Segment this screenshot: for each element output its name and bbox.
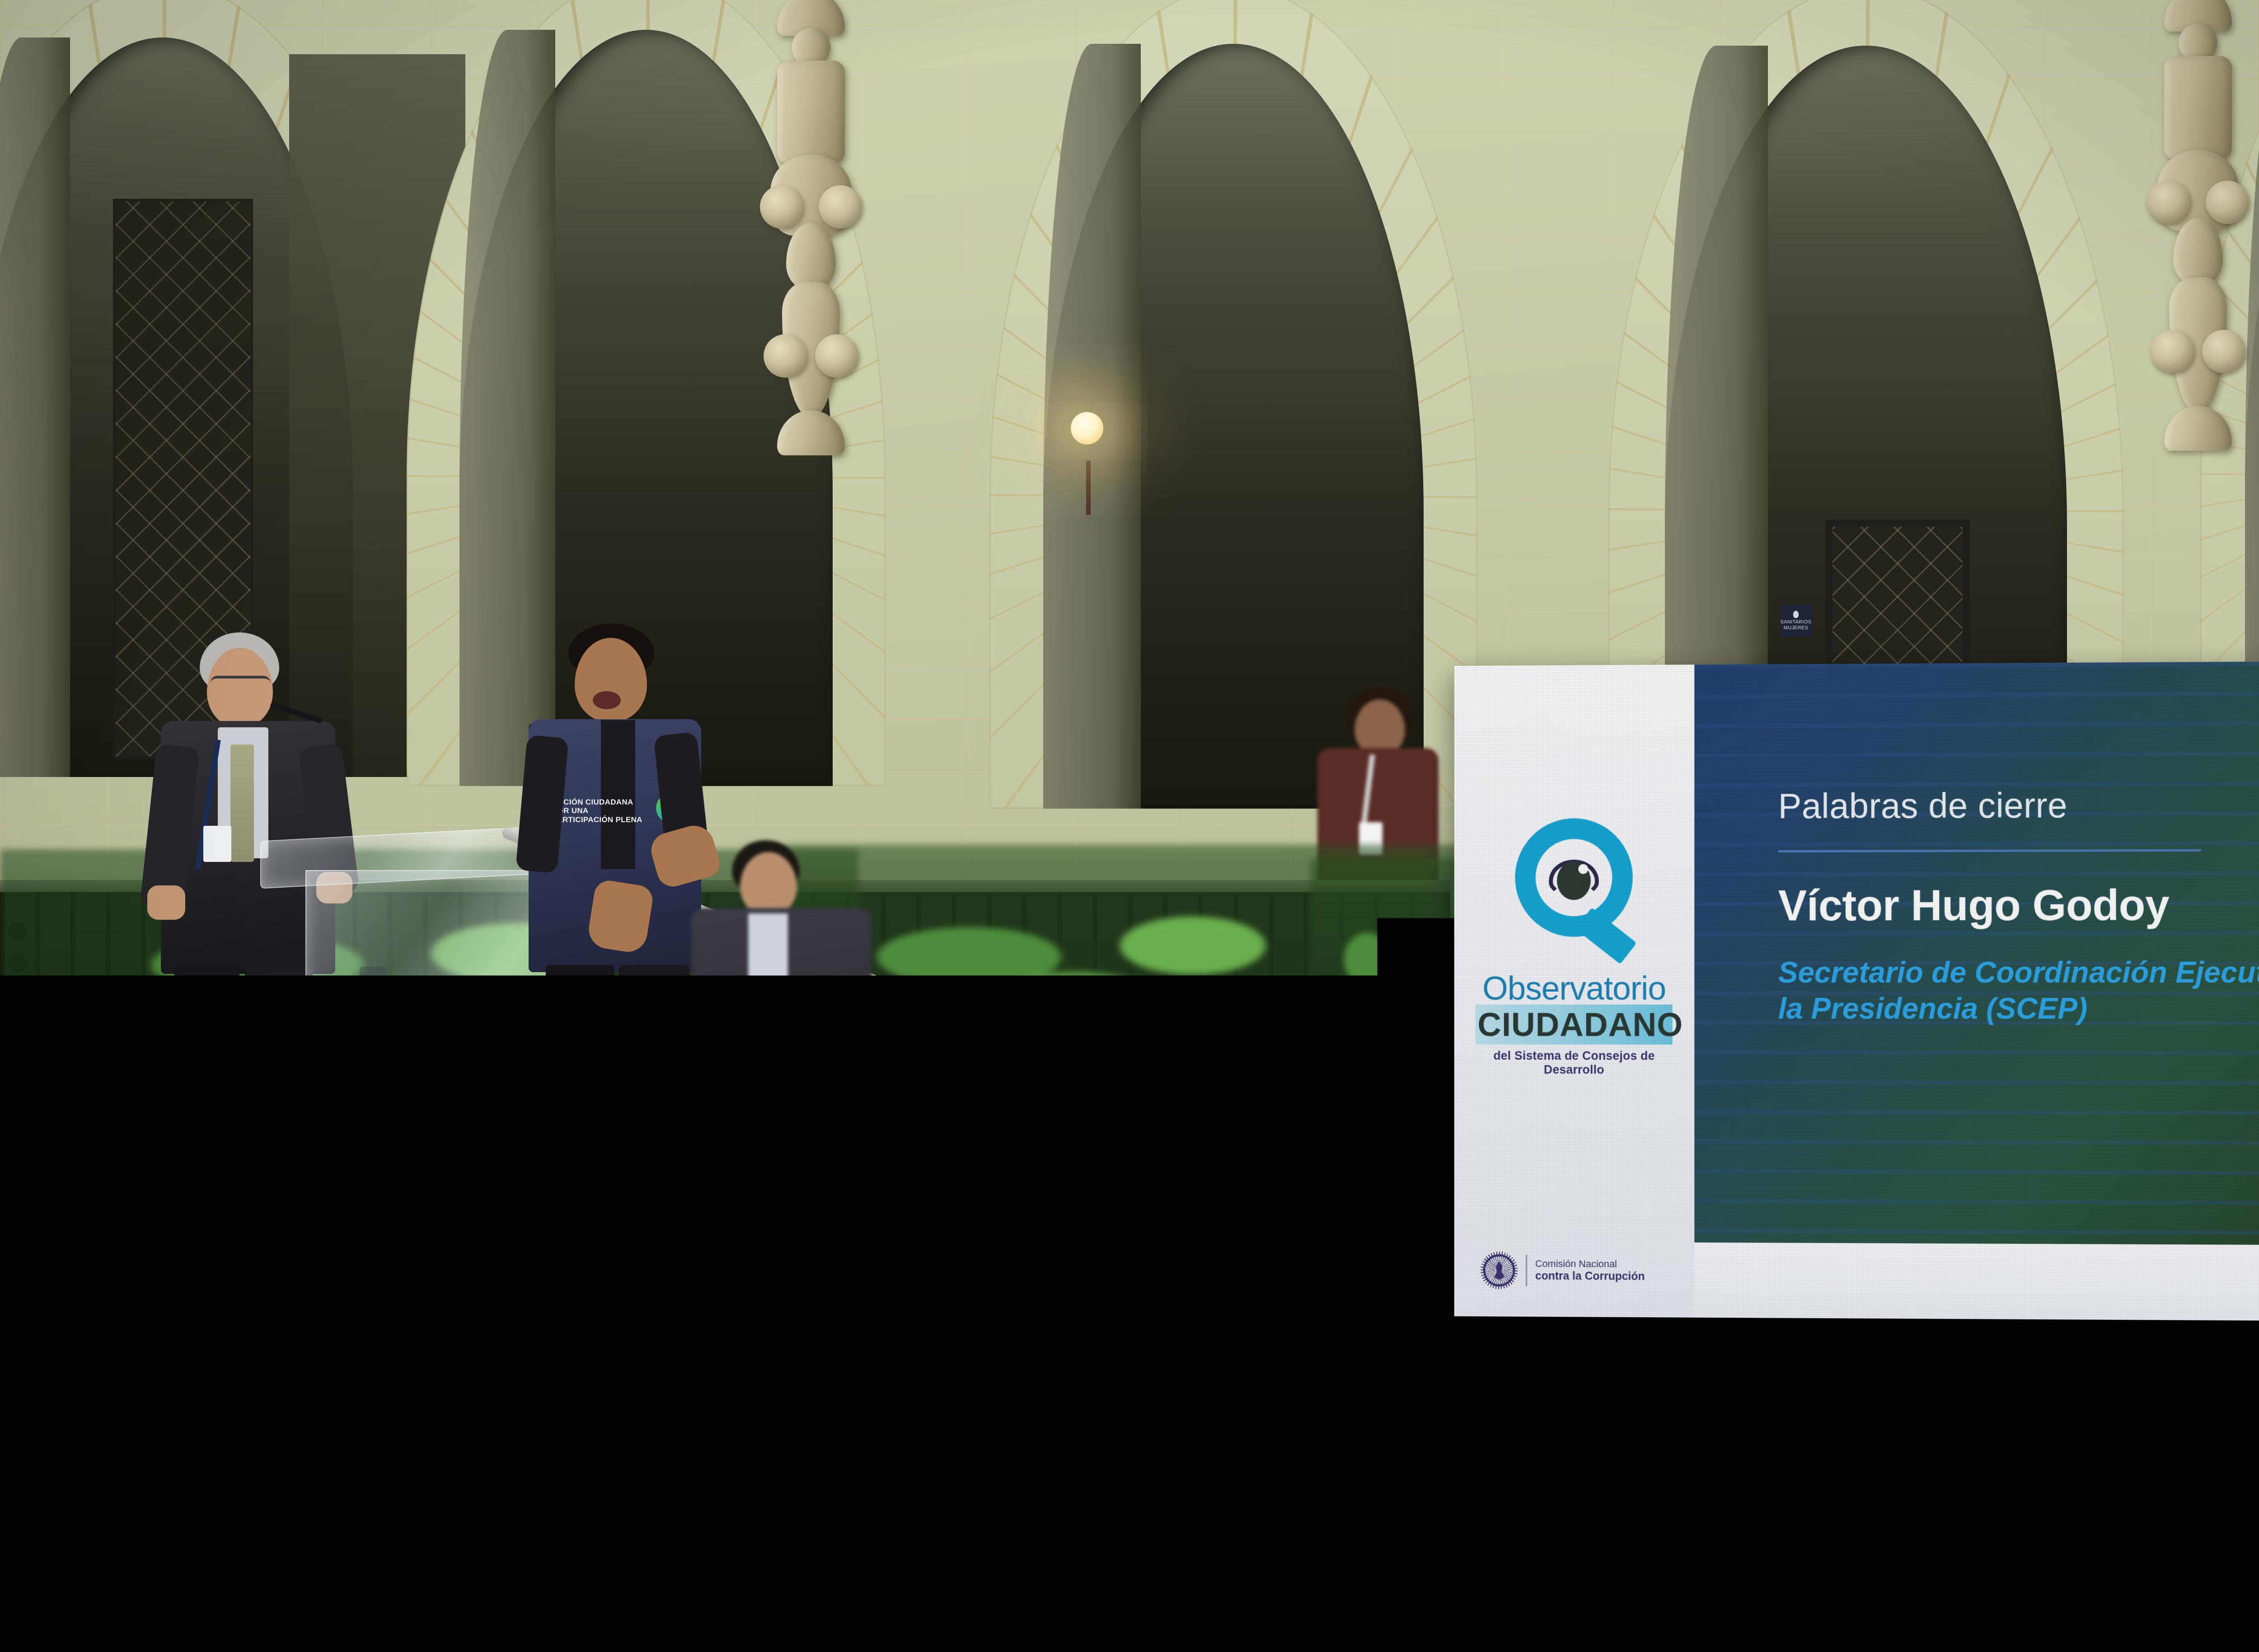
- photo-scene: SANITARIOS MUJERES: [0, 0, 2259, 1652]
- wristwatch-icon: [832, 1056, 856, 1072]
- slide-role-line2: la Presidencia (SCEP): [1778, 990, 2259, 1027]
- logo-subtitle: del Sistema de Consejos de Desarrollo: [1476, 1049, 1673, 1077]
- audience-member-8: [1120, 1346, 1355, 1652]
- eyeglasses-icon: [211, 676, 270, 689]
- seated-shirt: [748, 913, 788, 1004]
- logo-word-observatorio: Observatorio: [1476, 969, 1673, 1007]
- observatorio-eye-q-icon: [1507, 818, 1641, 962]
- microphone-boom: [270, 702, 323, 724]
- audience-member-1: [0, 1391, 194, 1652]
- vest-text-line2: POR UNA PARTICIPACIÓN PLENA: [552, 806, 642, 824]
- podium-cutout-2: [360, 1044, 387, 1098]
- seated-official: [687, 840, 886, 1220]
- door-sign-line1: SANITARIOS: [1781, 619, 1812, 625]
- podium-cutout-3: [360, 1120, 387, 1174]
- observatorio-ciudadano-logo: Observatorio CIUDADANO del Sistema de Co…: [1476, 818, 1673, 1077]
- led-presentation-screen[interactable]: Observatorio CIUDADANO del Sistema de Co…: [1454, 660, 2259, 1322]
- vest-text-line1: ACCIÓN CIUDADANA: [552, 798, 642, 806]
- id-badge: [203, 826, 231, 862]
- raised-hand: [1471, 1554, 1521, 1631]
- speaker-left-hand: [147, 885, 185, 920]
- guatemala-seal-icon: [1481, 1251, 1518, 1289]
- logo-word-ciudadano: CIUDADANO: [1476, 1005, 1673, 1045]
- slide-kicker: Palabras de cierre: [1778, 783, 2259, 827]
- podium-cutout-1: [360, 967, 387, 1021]
- interpreter-shirt-placket: [601, 720, 635, 869]
- logo-divider: [1526, 1255, 1527, 1287]
- carved-pilaster-right: [2155, 0, 2241, 451]
- screen-slide-area: Palabras de cierre Víctor Hugo Godoy Sec…: [1694, 660, 2259, 1246]
- interpreter-mouth: [593, 691, 621, 709]
- audience-member-12: [2250, 1509, 2259, 1652]
- wall-sconce-light: [1071, 412, 1103, 445]
- door-sign-line2: MUJERES: [1784, 625, 1809, 631]
- cncc-line1: Comisión Nacional: [1535, 1258, 1645, 1270]
- screen-footer-bar: Secretaría de Coordinación Ejecutiva de …: [1694, 1242, 2259, 1322]
- necktie: [230, 744, 254, 862]
- screen-brand-panel: Observatorio CIUDADANO del Sistema de Co…: [1454, 665, 1694, 1317]
- audience-member-3: [398, 1324, 633, 1652]
- slide-role-line1: Secretario de Coordinación Ejecutiva de: [1778, 954, 2259, 990]
- interpreter-vest-text: ACCIÓN CIUDADANA POR UNA PARTICIPACIÓN P…: [552, 800, 642, 821]
- carved-pilaster-left: [768, 0, 854, 455]
- slide-speaker-role: Secretario de Coordinación Ejecutiva de …: [1778, 954, 2259, 1027]
- slide-text-block: Palabras de cierre Víctor Hugo Godoy Sec…: [1778, 783, 2259, 1027]
- comision-nacional-logo: Comisión Nacional contra la Corrupción: [1481, 1251, 1645, 1290]
- audience-member-filming: [1491, 1486, 1681, 1652]
- stage-monitor-speaker: [0, 1147, 122, 1254]
- sconce-arm: [1086, 461, 1091, 515]
- slide-divider: [1778, 849, 2201, 852]
- audience-member-10: [2074, 1324, 2259, 1652]
- slide-speaker-name: Víctor Hugo Godoy: [1778, 880, 2259, 931]
- screen-truss-left: [1730, 1312, 1784, 1547]
- cncc-line2: contra la Corrupción: [1535, 1270, 1645, 1283]
- sanitarios-mujeres-sign: SANITARIOS MUJERES: [1780, 604, 1812, 637]
